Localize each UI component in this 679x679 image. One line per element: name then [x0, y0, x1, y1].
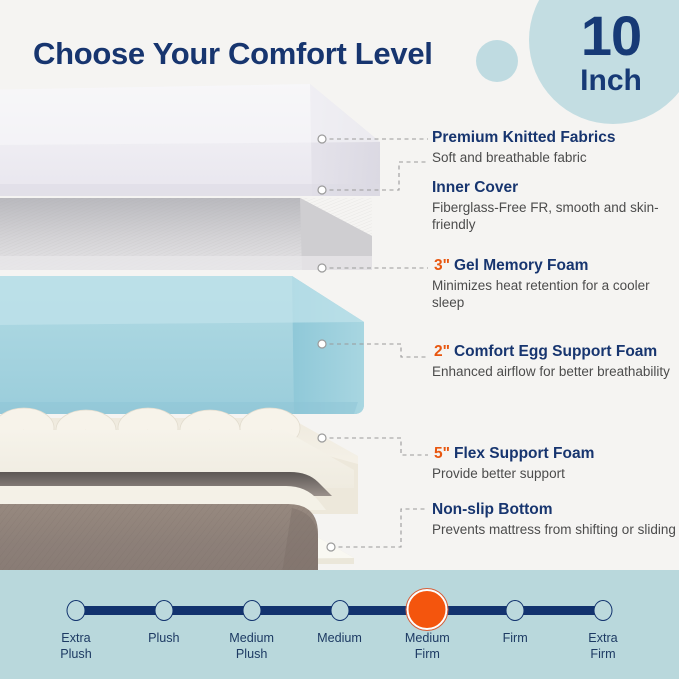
callout-title: Premium Knitted Fabrics: [432, 128, 679, 148]
firmness-dot-extra-firm[interactable]: [594, 600, 613, 621]
callout-title: 2"Comfort Egg Support Foam: [432, 342, 679, 362]
firmness-label-line1: Medium: [405, 631, 450, 645]
firmness-dot-extra-plush[interactable]: [67, 600, 86, 621]
firmness-label-line2: Firm: [415, 647, 440, 661]
layer-thickness-badge: 3": [432, 256, 453, 276]
firmness-label-line1: Medium: [317, 631, 362, 645]
firmness-label-line1: Plush: [148, 631, 180, 645]
firmness-dot-medium-firm[interactable]: [407, 589, 448, 630]
firmness-dot-medium-plush[interactable]: [242, 600, 261, 621]
callout-inner-cover: Inner Cover Fiberglass-Free FR, smooth a…: [432, 178, 679, 234]
firmness-scale-band: [0, 570, 679, 679]
callout-non-slip-bottom: Non-slip Bottom Prevents mattress from s…: [432, 500, 679, 538]
firmness-dot-plush[interactable]: [154, 600, 173, 621]
callout-title: 5"Flex Support Foam: [432, 444, 679, 464]
callout-title-text: Gel Memory Foam: [454, 257, 588, 274]
callout-description: Minimizes heat retention for a cooler sl…: [432, 277, 679, 313]
firmness-label-line2: Plush: [236, 647, 268, 661]
firmness-label-line1: Firm: [503, 631, 528, 645]
callout-title: Inner Cover: [432, 178, 679, 198]
firmness-label-line2: Plush: [60, 647, 92, 661]
callout-description: Fiberglass-Free FR, smooth and skin-frie…: [432, 199, 679, 235]
callout-description: Soft and breathable fabric: [432, 149, 679, 167]
callout-title: Non-slip Bottom: [432, 500, 679, 520]
firmness-label-line2: Firm: [590, 647, 615, 661]
firmness-label-line1: Extra: [61, 631, 90, 645]
infographic-root: Choose Your Comfort Level 10 Inch: [0, 0, 679, 679]
thickness-badge: 10 Inch: [551, 8, 671, 96]
firmness-label: ExtraFirm: [548, 630, 658, 662]
firmness-label-line1: Medium: [229, 631, 274, 645]
callout-comfort-egg-support-foam: 2"Comfort Egg Support Foam Enhanced airf…: [432, 342, 679, 380]
callout-description: Enhanced airflow for better breathabilit…: [432, 363, 679, 381]
callout-premium-knitted-fabrics: Premium Knitted Fabrics Soft and breatha…: [432, 128, 679, 166]
thickness-badge-number: 10: [551, 8, 671, 64]
callout-description: Provide better support: [432, 465, 679, 483]
firmness-dot-firm[interactable]: [506, 600, 525, 621]
callout-title: 3"Gel Memory Foam: [432, 256, 679, 276]
thickness-badge-unit: Inch: [551, 66, 671, 96]
mattress-base: [0, 430, 420, 590]
firmness-label-line1: Extra: [588, 631, 617, 645]
callout-title-text: Flex Support Foam: [454, 445, 594, 462]
callout-flex-support-foam: 5"Flex Support Foam Provide better suppo…: [432, 444, 679, 482]
firmness-dot-medium[interactable]: [330, 600, 349, 621]
layer-thickness-badge: 2": [432, 342, 453, 362]
page-title: Choose Your Comfort Level: [33, 36, 433, 72]
callout-gel-memory-foam: 3"Gel Memory Foam Minimizes heat retenti…: [432, 256, 679, 312]
title-accent-circle: [476, 40, 518, 82]
callout-title-text: Comfort Egg Support Foam: [454, 343, 657, 360]
layer-thickness-badge: 5": [432, 444, 453, 464]
callout-description: Prevents mattress from shifting or slidi…: [432, 521, 679, 539]
